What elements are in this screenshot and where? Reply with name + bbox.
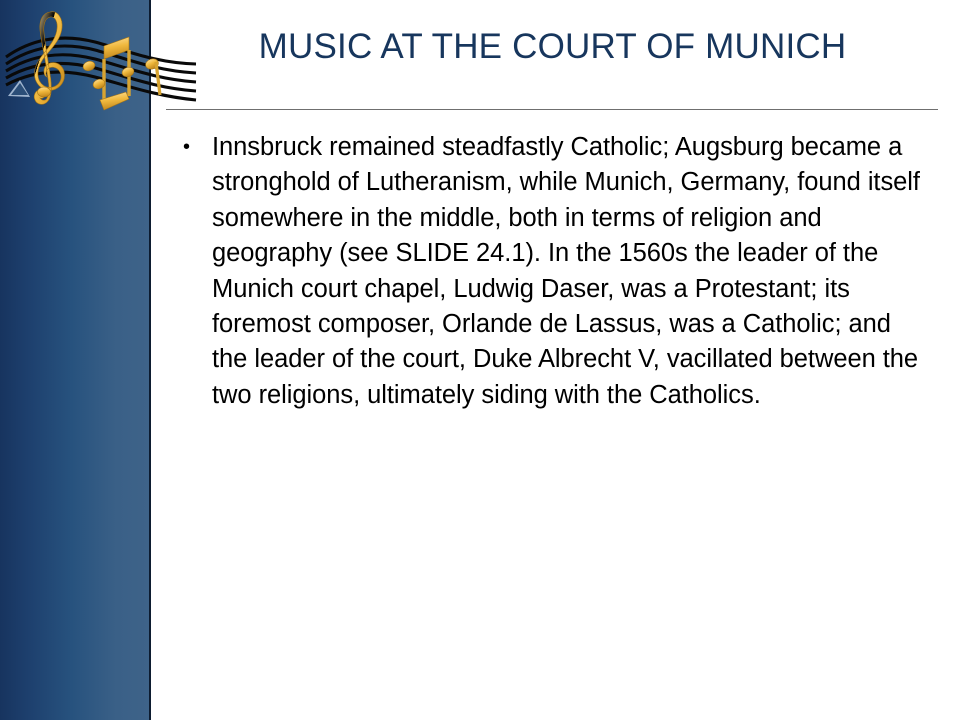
note-stem xyxy=(156,62,160,95)
slide-body-container: • Innsbruck remained steadfastly Catholi… xyxy=(178,130,930,413)
sidebar-decoration-band xyxy=(0,0,151,720)
bullet-list-item: • Innsbruck remained steadfastly Catholi… xyxy=(178,130,930,413)
page-title: MUSIC AT THE COURT OF MUNICH xyxy=(165,26,940,68)
bullet-marker-icon: • xyxy=(183,130,190,165)
bullet-text: Innsbruck remained steadfastly Catholic;… xyxy=(212,133,920,409)
title-divider-rule xyxy=(166,109,938,110)
slide-title-container: MUSIC AT THE COURT OF MUNICH xyxy=(165,26,940,68)
slide-canvas: MUSIC AT THE COURT OF MUNICH • Innsbruck… xyxy=(0,0,960,720)
